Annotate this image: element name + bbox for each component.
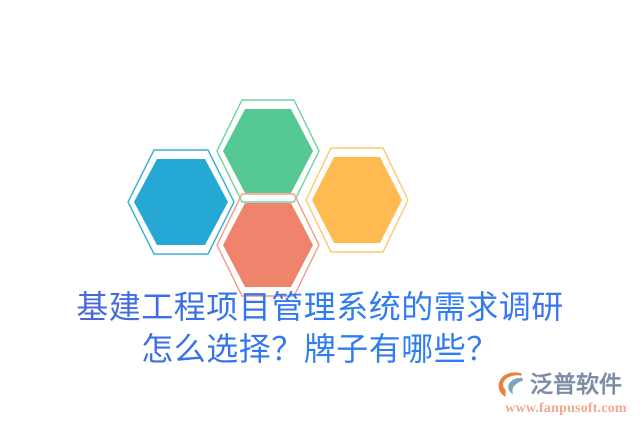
brand-logo-row: 泛普软件 — [497, 370, 635, 400]
page-title-line-2: 怎么选择？牌子有哪些？ — [0, 328, 640, 370]
fanpu-logo-inner-swoosh — [508, 378, 522, 394]
page-title: 基建工程项目管理系统的需求调研 怎么选择？牌子有哪些？ — [0, 286, 640, 370]
hexagon-coral-svg — [214, 191, 322, 299]
brand-url: www.fanpusoft.com — [497, 401, 635, 417]
banner-canvas: 基建工程项目管理系统的需求调研 怎么选择？牌子有哪些？ 泛普软件 www.fan… — [0, 0, 640, 427]
hexagon-orange-fill — [312, 157, 402, 243]
hexagon-cluster — [0, 0, 640, 300]
hexagon-green-fill — [223, 109, 313, 193]
page-title-line-1: 基建工程项目管理系统的需求调研 — [0, 286, 640, 328]
fanpu-logo-icon — [497, 370, 529, 400]
brand-name: 泛普软件 — [530, 372, 622, 398]
hexagon-coral — [214, 191, 322, 299]
hexagon-coral-fill — [223, 203, 313, 287]
brand-watermark: 泛普软件 www.fanpusoft.com — [497, 370, 635, 420]
